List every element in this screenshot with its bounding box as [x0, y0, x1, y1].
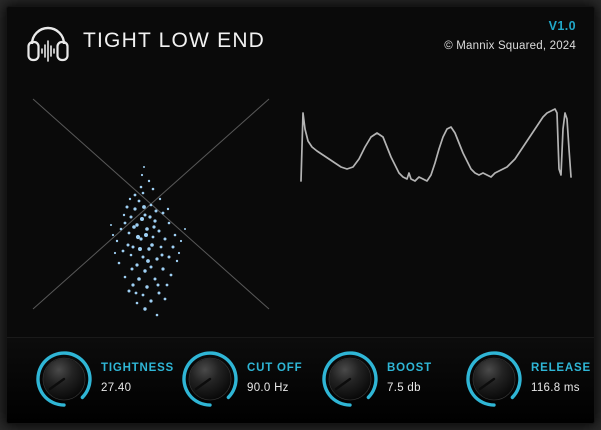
- stereo-correlation-scope: [25, 89, 277, 319]
- release-knob[interactable]: [463, 348, 525, 410]
- scatter-points: [110, 166, 186, 319]
- page-title: TIGHT LOW END: [83, 29, 265, 53]
- version-label: V1.0: [549, 19, 576, 33]
- tightness-knob[interactable]: [33, 348, 95, 410]
- cutoff-label: CUT OFF: [247, 362, 302, 374]
- boost-value: 7.5 db: [387, 382, 421, 394]
- display-area: [7, 77, 594, 332]
- cutoff-knob[interactable]: [179, 348, 241, 410]
- tightness-value: 27.40: [101, 382, 131, 394]
- release-label: RELEASE: [531, 362, 591, 374]
- release-value: 116.8 ms: [531, 382, 580, 394]
- control-strip: TIGHTNESS 27.40: [7, 337, 594, 423]
- spectrum-display: [295, 89, 579, 319]
- plugin-window: TIGHT LOW END V1.0 © Mannix Squared, 202…: [7, 7, 594, 423]
- headphones-waveform-icon: [24, 17, 72, 65]
- boost-label: BOOST: [387, 362, 432, 374]
- copyright-label: © Mannix Squared, 2024: [444, 40, 576, 52]
- tightness-label: TIGHTNESS: [101, 362, 174, 374]
- cutoff-value: 90.0 Hz: [247, 382, 289, 394]
- boost-knob[interactable]: [319, 348, 381, 410]
- header-bar: TIGHT LOW END V1.0 © Mannix Squared, 202…: [7, 7, 594, 73]
